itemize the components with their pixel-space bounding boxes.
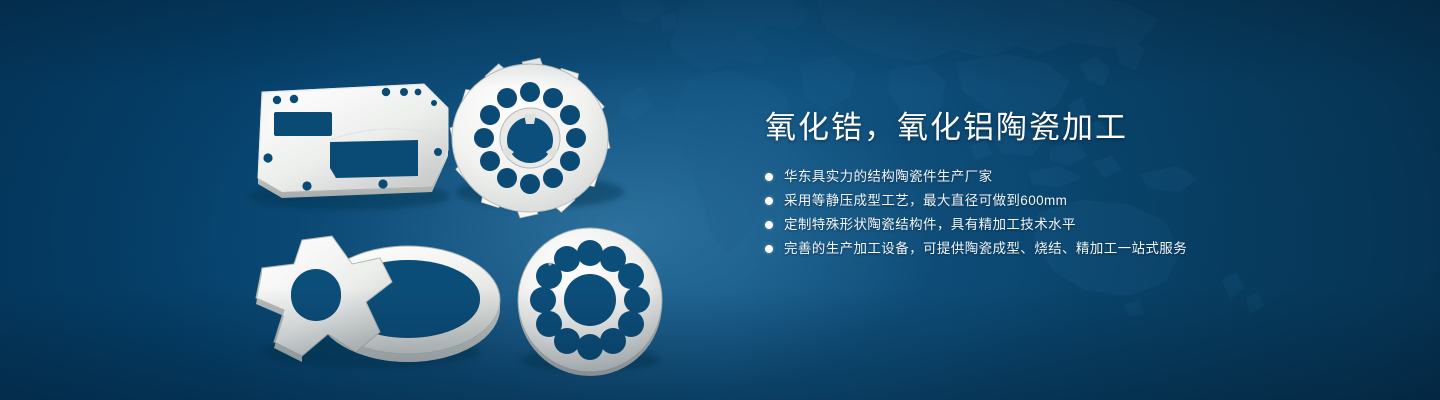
feature-bullet-text: 定制特殊形状陶瓷结构件，具有精加工技术水平 — [784, 216, 1076, 234]
feature-bullet-item: 华东具实力的结构陶瓷件生产厂家 — [765, 168, 1385, 186]
bullet-dot-icon — [765, 221, 773, 229]
feature-bullet-item: 完善的生产加工设备，可提供陶瓷成型、烧结、精加工一站式服务 — [765, 240, 1385, 258]
banner-copy: 氧化锆，氧化铝陶瓷加工 华东具实力的结构陶瓷件生产厂家 采用等静压成型工艺，最大… — [765, 108, 1385, 264]
bullet-dot-icon — [765, 197, 773, 205]
feature-bullet-item: 定制特殊形状陶瓷结构件，具有精加工技术水平 — [765, 216, 1385, 234]
bullet-dot-icon — [765, 245, 773, 253]
feature-bullet-text: 华东具实力的结构陶瓷件生产厂家 — [784, 168, 993, 186]
banner-headline: 氧化锆，氧化铝陶瓷加工 — [765, 108, 1385, 148]
bullet-dot-icon — [765, 173, 773, 181]
feature-bullet-list: 华东具实力的结构陶瓷件生产厂家 采用等静压成型工艺，最大直径可做到600mm 定… — [765, 168, 1385, 258]
feature-bullet-text: 采用等静压成型工艺，最大直径可做到600mm — [784, 192, 1067, 210]
feature-bullet-item: 采用等静压成型工艺，最大直径可做到600mm — [765, 192, 1385, 210]
feature-bullet-text: 完善的生产加工设备，可提供陶瓷成型、烧结、精加工一站式服务 — [784, 240, 1187, 258]
promo-banner: 氧化锆，氧化铝陶瓷加工 华东具实力的结构陶瓷件生产厂家 采用等静压成型工艺，最大… — [0, 0, 1440, 400]
